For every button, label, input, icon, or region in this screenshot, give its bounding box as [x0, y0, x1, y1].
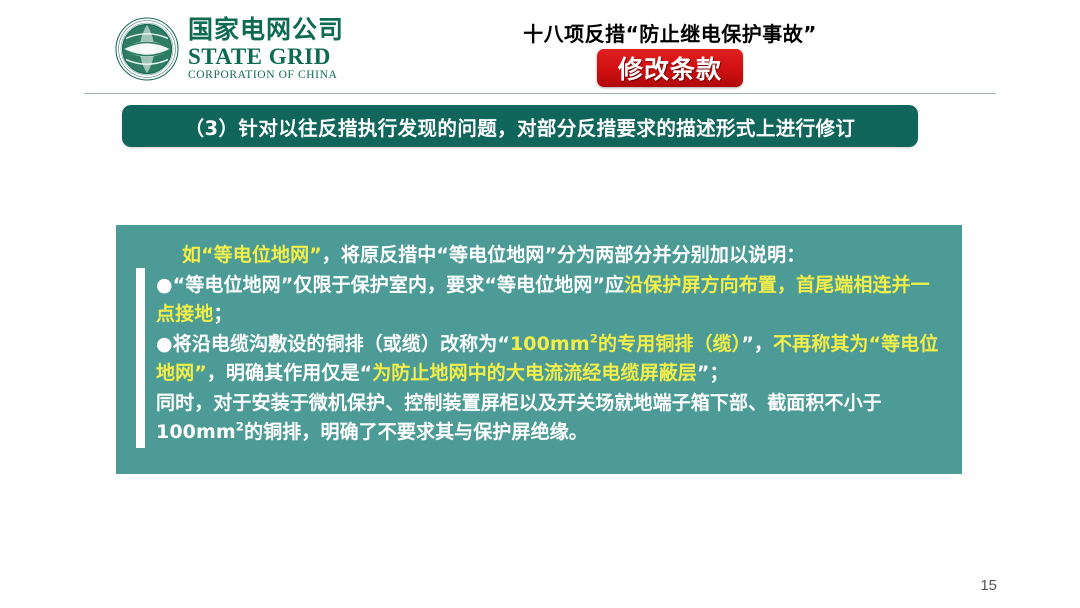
text-run: ”； [697, 362, 729, 384]
text-run: ”， [741, 333, 773, 355]
text-run: ●“等电位地网”仅限于保护室内，要求“等电位地网”应 [156, 274, 624, 296]
logo-chinese-name: 国家电网公司 [188, 17, 344, 42]
section-banner-label: （3）针对以往反措执行发现的问题，对部分反措要求的描述形式上进行修订 [185, 112, 856, 141]
status-badge-label: 修改条款 [618, 50, 722, 86]
logo-english-name: STATE GRID [188, 45, 344, 68]
content-paragraph-3: ●将沿电缆沟敷设的铜排（或缆）改称为“100mm2的专用铜排（缆）”，不再称其为… [156, 330, 946, 389]
header-divider [84, 93, 996, 94]
content-panel: 如“等电位地网”，将原反措中“等电位地网”分为两部分并分别加以说明： ●“等电位… [116, 225, 962, 474]
text-run: ，将原反措中“等电位地网”分为两部分并分别加以说明： [322, 244, 806, 266]
section-banner: （3）针对以往反措执行发现的问题，对部分反措要求的描述形式上进行修订 [122, 105, 918, 147]
content-paragraph-2: ●“等电位地网”仅限于保护室内，要求“等电位地网”应沿保护屏方向布置，首尾端相连… [156, 271, 946, 330]
content-text: 如“等电位地网”，将原反措中“等电位地网”分为两部分并分别加以说明： ●“等电位… [156, 241, 946, 448]
state-grid-globe-logo-icon [114, 16, 180, 82]
text-run: 100mm2的专用铜排（缆） [510, 333, 741, 355]
text-run: ，明确其作用仅是“ [207, 362, 372, 384]
page-number: 15 [980, 577, 997, 594]
logo-wordmark: 国家电网公司 STATE GRID CORPORATION OF CHINA [188, 17, 344, 82]
text-run: 同时，对于安装于微机保护、控制装置屏柜以及开关场就地端子箱下部、截面积不小于10… [156, 392, 882, 444]
text-run: 如“等电位地网” [182, 244, 322, 266]
text-run: ； [213, 303, 232, 325]
content-paragraph-4: 同时，对于安装于微机保护、控制装置屏柜以及开关场就地端子箱下部、截面积不小于10… [156, 389, 946, 448]
text-run: 为防止地网中的大电流流经电缆屏蔽层 [372, 362, 697, 384]
content-accent-bar [136, 268, 145, 448]
text-run: ●将沿电缆沟敷设的铜排（或缆）改称为“ [156, 333, 510, 355]
page-header: 国家电网公司 STATE GRID CORPORATION OF CHINA 十… [0, 0, 1080, 96]
state-grid-logo: 国家电网公司 STATE GRID CORPORATION OF CHINA [114, 16, 344, 82]
content-paragraph-1: 如“等电位地网”，将原反措中“等电位地网”分为两部分并分别加以说明： [156, 241, 946, 271]
page-title: 十八项反措“防止继电保护事故” [470, 18, 870, 47]
status-badge: 修改条款 [597, 49, 743, 87]
logo-english-subtitle: CORPORATION OF CHINA [188, 70, 344, 82]
